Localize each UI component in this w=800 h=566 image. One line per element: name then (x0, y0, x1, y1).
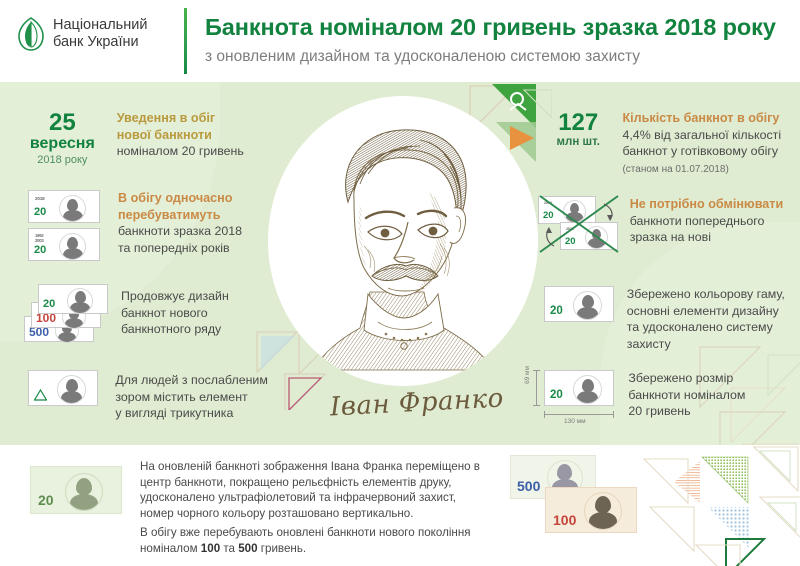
banknote-denom: 20 (550, 390, 563, 402)
right-row-1-lead: Кількість банкнот в обігу (622, 110, 798, 127)
no-exchange-banknotes-icon: 2018 20 2018 20 (538, 194, 622, 256)
page-subtitle: з оновленим дизайном та удосконаленою си… (205, 48, 640, 66)
right-row-4-text: Збережено розмір банкноти номіналом 20 г… (628, 370, 800, 420)
banknote-year-old: 1992 2003 (35, 233, 44, 243)
portrait-circle (268, 96, 538, 386)
right-row-1-text: Кількість банкнот в обігу 4,4% від загал… (622, 110, 798, 176)
left-row-4-body: Для людей з послабленим зором містить ел… (115, 372, 299, 422)
banknote-20-size: 20 (544, 370, 614, 406)
portrait-placeholder (67, 288, 93, 314)
banknote-20: 20 (38, 284, 108, 314)
portrait-placeholder (59, 195, 86, 222)
banknote-denom-20: 20 (43, 299, 55, 310)
bottom-paragraph-2: В обігу вже перебувають оновлені банкнот… (140, 525, 488, 556)
right-row-3-body: Збережено кольорову гаму, основні елемен… (627, 286, 800, 352)
count-number: 127 (548, 110, 608, 135)
right-row-1-body: 4,4% від загальної кількості банкнот у г… (622, 127, 798, 160)
banknote-denom: 20 (550, 306, 563, 318)
dim-cap-top (533, 370, 540, 371)
left-row-date: 25 вересня 2018 року Уведення в обіг нов… (24, 110, 274, 167)
right-row-3-text: Збережено кольорову гаму, основні елемен… (627, 286, 800, 352)
right-row-4-body: Збережено розмір банкноти номіналом 20 г… (628, 370, 800, 420)
triangle-mark-icon (34, 389, 47, 401)
dim-height-label: 69 мм (524, 366, 531, 384)
banknote-accessible (28, 370, 98, 406)
date-year: 2018 року (24, 153, 101, 167)
nbu-trident-leaf-icon (18, 17, 44, 51)
portrait-placeholder (573, 375, 602, 404)
bottom-banknote-100-denom: 100 (553, 513, 576, 527)
p2-denom-100: 100 (201, 542, 220, 555)
bottom-banknote-500-denom: 500 (517, 479, 540, 493)
header-bar: Національнийбанк України Банкнота номіна… (0, 0, 800, 82)
bottom-paragraph-1-text: На оновленій банкноті зображення Івана Ф… (140, 459, 488, 521)
p2-part-e: гривень. (258, 542, 307, 555)
date-day: 25 (24, 110, 101, 135)
banknote-20-color: 20 (544, 286, 614, 322)
portrait-placeholder (584, 492, 622, 530)
bottom-paragraph-1: На оновленій банкноті зображення Івана Ф… (140, 459, 488, 521)
banknote-1992-2003: 1992 2003 20 (28, 228, 100, 261)
p2-denom-500: 500 (238, 542, 257, 555)
left-row-two-notes: 2018 20 1992 2003 20 В об (24, 190, 284, 262)
right-row-colors: 20 Збережено кольорову гаму, основні еле… (538, 286, 800, 352)
left-row-4-text: Для людей з послабленим зором містить ел… (115, 370, 299, 422)
left-row-3-body: Продовжує дизайн банкнот нового банкнотн… (121, 288, 284, 338)
bottom-banknote-denom: 20 (38, 493, 54, 507)
date-block: 25 вересня 2018 року (24, 110, 101, 167)
date-month: вересня (24, 135, 101, 153)
banknote-dimensions-icon: 20 69 мм 130 мм (528, 370, 624, 428)
count-unit: млн шт. (548, 135, 608, 149)
dim-cap-left (544, 411, 545, 418)
left-row-stacked-notes: 500 100 20 (24, 282, 284, 344)
page-title: Банкнота номіналом 20 гривень зразка 201… (205, 14, 776, 41)
banknote-icon: 20 (538, 286, 621, 328)
logo-line-1: Національний (53, 17, 147, 33)
dim-width-label: 130 мм (564, 418, 586, 425)
left-row-triangle: Для людей з послабленим зором містить ел… (24, 370, 299, 422)
left-row-1-lead: Уведення в обіг нової банкноти (117, 110, 274, 143)
left-row-2-body: банкноти зразка 2018 та попередніх років (118, 223, 283, 256)
portrait-placeholder (573, 291, 602, 320)
banknote-denom: 20 (34, 207, 46, 218)
right-row-2-text: Не потрібно обмінювати банкноти попередн… (630, 194, 800, 246)
right-row-count: 127 млн шт. Кількість банкнот в обігу 4,… (548, 110, 798, 176)
banknote-denom: 20 (34, 245, 46, 256)
ivan-franko-portrait (268, 96, 538, 386)
p2-part-c: та (220, 542, 238, 555)
portrait-placeholder (57, 375, 86, 404)
two-banknotes-icon: 2018 20 1992 2003 20 (24, 190, 106, 262)
right-row-no-exchange: 2018 20 2018 20 (538, 194, 800, 256)
nbu-logo: Національнийбанк України (18, 17, 147, 51)
left-row-2-lead: В обігу одночасно перебуватимуть (118, 190, 283, 223)
count-block: 127 млн шт. (548, 110, 608, 149)
banknote-2018: 2018 20 (28, 190, 100, 223)
left-row-3-text: Продовжує дизайн банкнот нового банкнотн… (121, 282, 284, 338)
banknote-year-2018: 2018 (35, 196, 44, 201)
bottom-panel: 20 На оновленій банкноті зображення Іван… (0, 445, 800, 566)
portrait-placeholder (59, 233, 86, 260)
bottom-banknote-20: 20 (30, 466, 122, 514)
banknote-triangle-icon (24, 370, 107, 410)
right-row-1-note: (станом на 01.07.2018) (622, 163, 798, 176)
right-row-2-body: банкноти попереднього зразка на нові (630, 213, 800, 246)
decor-triangles-bottom (630, 445, 800, 566)
header-divider (184, 8, 187, 74)
bottom-banknote-100: 100 (545, 487, 637, 533)
dim-cap-right (613, 411, 614, 418)
left-row-1-body: номіналом 20 гривень (117, 143, 274, 160)
nbu-logo-text: Національнийбанк України (53, 17, 147, 51)
left-row-1-text: Уведення в обіг нової банкноти номіналом… (117, 110, 274, 160)
bottom-paragraph-2-text: В обігу вже перебувають оновлені банкнот… (140, 525, 488, 556)
logo-line-2: банк України (53, 34, 139, 50)
infographic-page: Національнийбанк України Банкнота номіна… (0, 0, 800, 566)
dim-line-horizontal (544, 414, 614, 415)
right-row-2-lead: Не потрібно обмінювати (630, 196, 800, 213)
dim-cap-bottom (533, 405, 540, 406)
portrait-placeholder (65, 473, 103, 511)
left-row-2-text: В обігу одночасно перебуватимуть банкнот… (118, 190, 283, 256)
right-row-size: 20 69 мм 130 мм Збережено розмір (528, 370, 800, 428)
cross-out-icon (538, 194, 624, 256)
stacked-banknotes-icon: 500 100 20 (24, 282, 113, 344)
dim-line-vertical (536, 370, 537, 406)
